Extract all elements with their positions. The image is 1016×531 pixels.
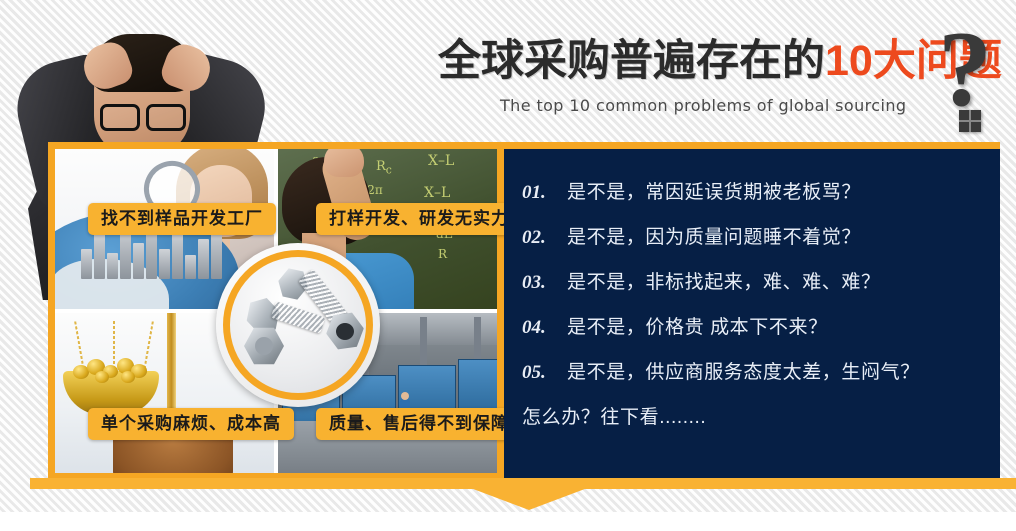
problems-footer: 怎么办？往下看........ [522,402,982,429]
problem-text: 是不是，供应商服务态度太差，生闷气？ [567,357,920,384]
nut-2-hole [336,323,354,340]
problem-item: 05. 是不是，供应商服务态度太差，生闷气？ [522,357,982,384]
gold-nuggets [71,357,149,381]
problem-item: 01. 是不是，常因延误货期被老板骂？ [522,177,982,204]
question-mark-dot-icon [959,110,981,132]
problem-number: 01. [522,182,554,204]
problem-text: 是不是，常因延误货期被老板骂？ [567,177,861,204]
problem-number: 03. [522,272,554,294]
bolts-and-nuts-badge [216,243,380,407]
collage-tag-2: 打样开发、研发无实力 [316,203,522,235]
glasses-icon [100,104,186,126]
page-title: 全球采购普遍存在的10大问题 [438,40,1002,83]
collage-tag-3: 单个采购麻烦、成本高 [88,408,294,440]
problem-number: 04. [522,317,554,339]
problem-number: 05. [522,362,554,384]
problems-list: 01. 是不是，常因延误货期被老板骂？ 02. 是不是，因为质量问题睡不着觉？ … [522,177,982,429]
collage-tag-4: 质量、售后得不到保障 [316,408,522,440]
problem-item: 04. 是不是，价格贵 成本下不来？ [522,312,982,339]
problem-number: 02. [522,227,554,249]
problem-text: 是不是，非标找起来，难、难、难？ [567,267,881,294]
factory-worker-head [401,392,409,400]
problem-item: 03. 是不是，非标找起来，难、难、难？ [522,267,982,294]
page-title-main: 全球采购普遍存在的 [438,37,825,85]
badge-orange-ring [223,250,373,400]
page-root: 全球采购普遍存在的10大问题 The top 10 common problem… [0,0,1016,531]
collage-tag-1: 找不到样品开发工厂 [88,203,276,235]
problem-text: 是不是，价格贵 成本下不来？ [567,312,828,339]
engineer-hand [324,149,364,177]
background-bottom-strip [0,512,1016,531]
nut-1-hole [255,337,273,355]
header: 全球采购普遍存在的10大问题 The top 10 common problem… [430,40,1010,140]
question-mark-icon: ? [938,16,992,124]
problem-item: 02. 是不是，因为质量问题睡不着觉？ [522,222,982,249]
problem-text: 是不是，因为质量问题睡不着觉？ [567,222,861,249]
problems-panel: 01. 是不是，常因延误货期被老板骂？ 02. 是不是，因为质量问题睡不着觉？ … [504,142,1000,480]
page-subtitle: The top 10 common problems of global sou… [500,96,906,115]
